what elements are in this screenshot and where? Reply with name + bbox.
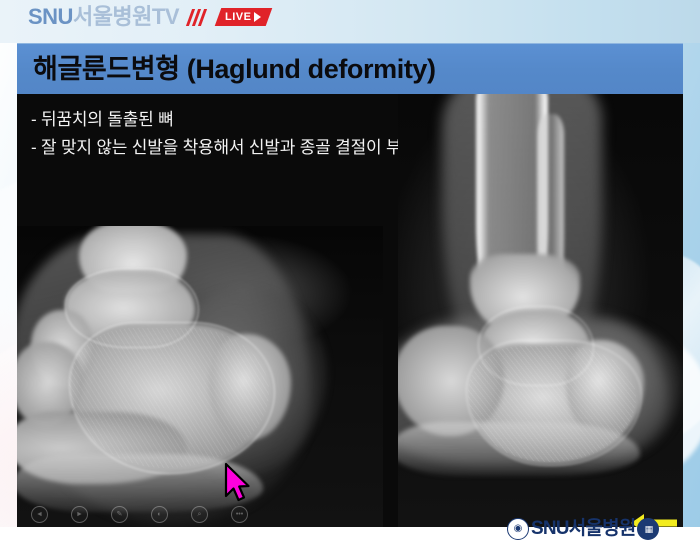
mouse-pointer-icon	[223, 462, 251, 502]
lateral-foot-xray-left: ◄ ► ✎ ◐ ⌕ •••	[17, 226, 383, 527]
zoom-button[interactable]: ⌕	[191, 506, 208, 523]
watermark-text: SNU서울병원	[531, 519, 635, 539]
seal-emblem-icon-left: ◉	[507, 518, 529, 540]
channel-header-bar: SNU서울병원TV LIVE	[0, 0, 700, 43]
slide-page: SNU서울병원TV LIVE 해글룬드변형 (Haglund deformity…	[0, 0, 700, 551]
triple-slash-icon	[189, 9, 211, 26]
brand-wordmark: SNU서울병원TV	[28, 5, 179, 29]
brand-snu-text: SNU	[28, 4, 73, 29]
lateral-ankle-xray-right	[398, 94, 683, 527]
left-margin	[0, 43, 17, 527]
more-button[interactable]: •••	[231, 506, 248, 523]
play-triangle-icon	[254, 12, 261, 22]
next-button[interactable]: ►	[71, 506, 88, 523]
page-title: 해글룬드변형 (Haglund deformity)	[33, 53, 436, 86]
pen-button[interactable]: ✎	[111, 506, 128, 523]
slide-content-area: - 뒤꿈치의 돌출된 뼈 - 잘 맞지 않는 신발을 착용해서 신발과 종골 결…	[17, 94, 683, 527]
live-badge: LIVE	[215, 8, 273, 26]
talus-cortex-right	[478, 306, 594, 386]
image-viewer-toolbar[interactable]: ◄ ► ✎ ◐ ⌕ •••	[31, 506, 248, 523]
contrast-button[interactable]: ◐	[151, 506, 168, 523]
seal-emblem-icon-right: ▦	[637, 518, 659, 540]
prev-button[interactable]: ◄	[31, 506, 48, 523]
live-label: LIVE	[225, 10, 251, 24]
talus-cortex-left	[65, 268, 199, 348]
channel-brand-logo[interactable]: SNU서울병원TV LIVE	[28, 5, 269, 29]
presentation-slide: 해글룬드변형 (Haglund deformity) - 뒤꿈치의 돌출된 뼈 …	[17, 43, 683, 527]
slide-title-bar: 해글룬드변형 (Haglund deformity)	[17, 43, 683, 95]
hospital-watermark-logo: ◉ SNU서울병원 ▦	[507, 516, 659, 542]
brand-korean-text: 서울병원TV	[73, 4, 179, 29]
